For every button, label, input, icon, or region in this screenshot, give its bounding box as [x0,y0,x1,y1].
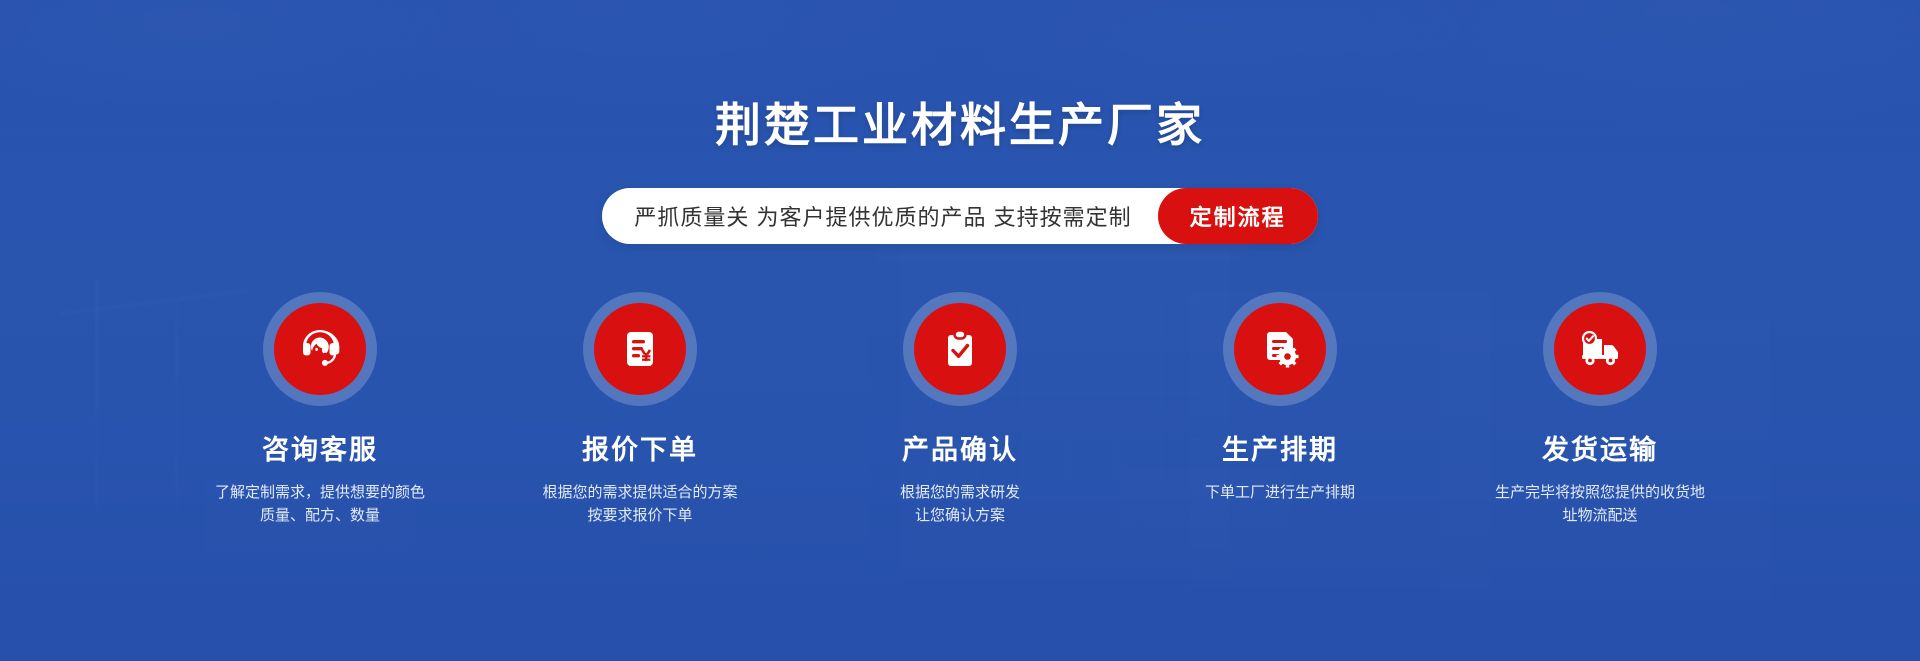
step-1-icon-ring [263,292,377,406]
step-3-title: 产品确认 [902,428,1018,467]
step-5-desc-line-2: 址物流配送 [1495,504,1705,527]
step-5-icon-ring [1543,292,1657,406]
step-2-description: 根据您的需求提供适合的方案 按要求报价下单 [542,481,737,528]
process-steps: 咨询客服 了解定制需求，提供想要的颜色 质量、配方、数量 [190,292,1730,528]
step-2-icon-disc [594,303,686,395]
custom-process-button[interactable]: 定制流程 [1158,188,1318,244]
process-step-5[interactable]: 发货运输 生产完毕将按照您提供的收货地 址物流配送 [1470,292,1730,528]
step-1-icon-disc [274,303,366,395]
process-step-3[interactable]: 产品确认 根据您的需求研发 让您确认方案 [830,292,1090,528]
process-step-2[interactable]: 报价下单 根据您的需求提供适合的方案 按要求报价下单 [510,292,770,528]
process-step-1[interactable]: 咨询客服 了解定制需求，提供想要的颜色 质量、配方、数量 [190,292,450,528]
step-3-icon-ring [903,292,1017,406]
step-4-desc-line-1: 下单工厂进行生产排期 [1205,481,1355,504]
step-4-title: 生产排期 [1222,428,1338,467]
invoice-yuan-icon [616,325,664,373]
subtitle-pill: 严抓质量关 为客户提供优质的产品 支持按需定制 定制流程 [602,188,1317,244]
clipboard-check-icon [936,325,984,373]
step-2-desc-line-1: 根据您的需求提供适合的方案 [542,481,737,504]
headset-support-icon [294,323,346,375]
step-4-icon-disc [1234,303,1326,395]
step-1-desc-line-1: 了解定制需求，提供想要的颜色 [215,481,425,504]
process-step-4[interactable]: 生产排期 下单工厂进行生产排期 [1150,292,1410,504]
step-5-description: 生产完毕将按照您提供的收货地 址物流配送 [1495,481,1705,528]
step-3-desc-line-2: 让您确认方案 [900,504,1020,527]
step-5-desc-line-1: 生产完毕将按照您提供的收货地 [1495,481,1705,504]
step-2-desc-line-2: 按要求报价下单 [542,504,737,527]
step-5-title: 发货运输 [1542,428,1658,467]
delivery-truck-check-icon [1575,324,1625,374]
step-3-icon-disc [914,303,1006,395]
step-1-title: 咨询客服 [262,428,378,467]
banner-content: 荆楚工业材料生产厂家 严抓质量关 为客户提供优质的产品 支持按需定制 定制流程 [0,0,1920,661]
step-1-description: 了解定制需求，提供想要的颜色 质量、配方、数量 [215,481,425,528]
promo-banner: 荆楚工业材料生产厂家 严抓质量关 为客户提供优质的产品 支持按需定制 定制流程 [0,0,1920,661]
step-4-icon-ring [1223,292,1337,406]
step-3-description: 根据您的需求研发 让您确认方案 [900,481,1020,528]
step-5-icon-disc [1554,303,1646,395]
step-1-desc-line-2: 质量、配方、数量 [215,504,425,527]
document-gear-icon [1256,325,1304,373]
step-3-desc-line-1: 根据您的需求研发 [900,481,1020,504]
step-4-description: 下单工厂进行生产排期 [1205,481,1355,504]
banner-headline: 荆楚工业材料生产厂家 [715,102,1205,148]
step-2-title: 报价下单 [582,428,698,467]
step-2-icon-ring [583,292,697,406]
subtitle-text: 严抓质量关 为客户提供优质的产品 支持按需定制 [634,200,1157,232]
